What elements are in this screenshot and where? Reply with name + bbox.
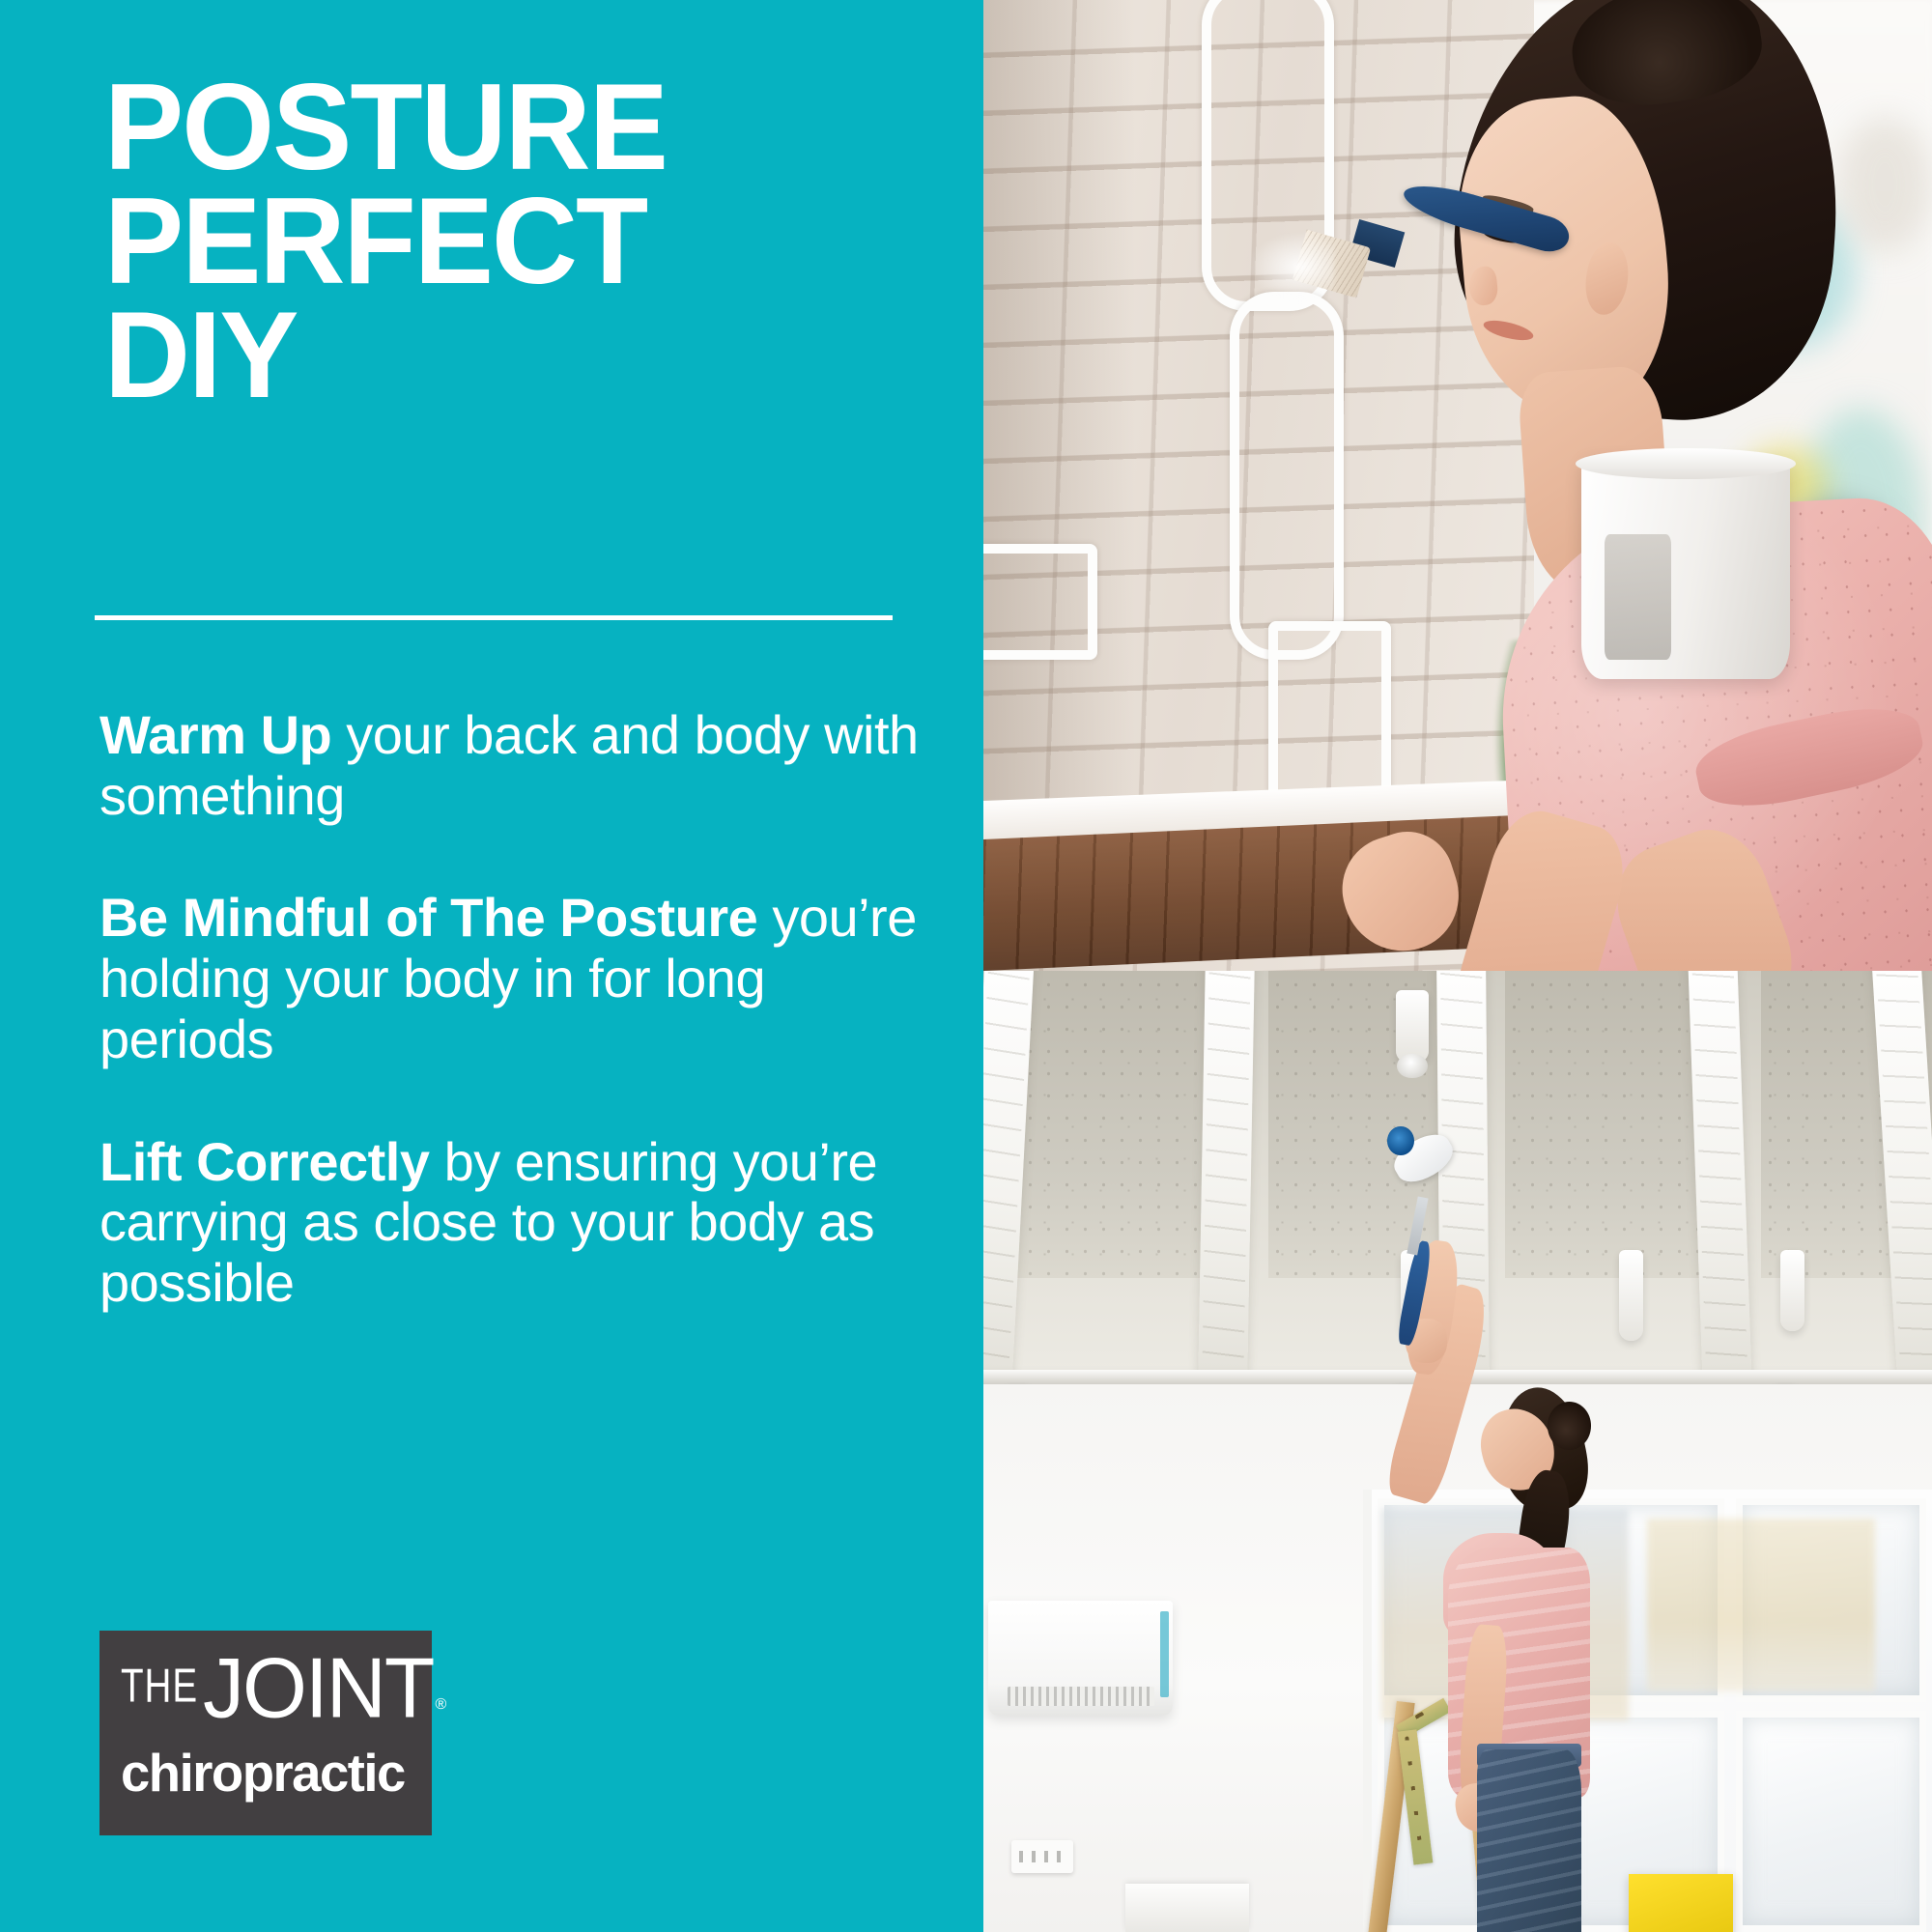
tip-item-warm-up: Warm Up your back and body with somethin… [99,705,950,826]
headline-line-1: POSTURE [104,70,910,184]
registered-trademark-icon: ® [435,1697,446,1713]
horizontal-divider [95,615,893,620]
logo-the-text: THE [121,1662,198,1710]
logo-chiropractic-text: chiropractic [121,1747,405,1800]
tip-item-lift-correctly: Lift Correctly by ensuring you’re carryi… [99,1132,950,1314]
headline-line-3: DIY [104,298,910,412]
tip-lead-lift-correctly: Lift Correctly [99,1131,444,1192]
logo-wordmark-top: THE JOINT ® [121,1654,446,1722]
brand-logo[interactable]: THE JOINT ® chiropractic [99,1631,432,1835]
tip-lead-warm-up: Warm Up [99,704,346,765]
photo-woman-on-ladder-painting-ceiling [983,971,1932,1932]
left-content-panel: POSTURE PERFECT DIY Warm Up your back an… [0,0,983,1932]
page-title: POSTURE PERFECT DIY [104,70,910,412]
poster-canvas: POSTURE PERFECT DIY Warm Up your back an… [0,0,1932,1932]
tip-item-be-mindful: Be Mindful of The Posture you’re holding… [99,888,950,1069]
tips-list: Warm Up your back and body with somethin… [99,705,950,1314]
photo-woman-painting-brick-wall [983,0,1932,971]
headline-line-2: PERFECT [104,184,910,298]
tip-lead-be-mindful: Be Mindful of The Posture [99,887,772,948]
photo-column [983,0,1932,1932]
logo-joint-text: JOINT [203,1654,433,1723]
